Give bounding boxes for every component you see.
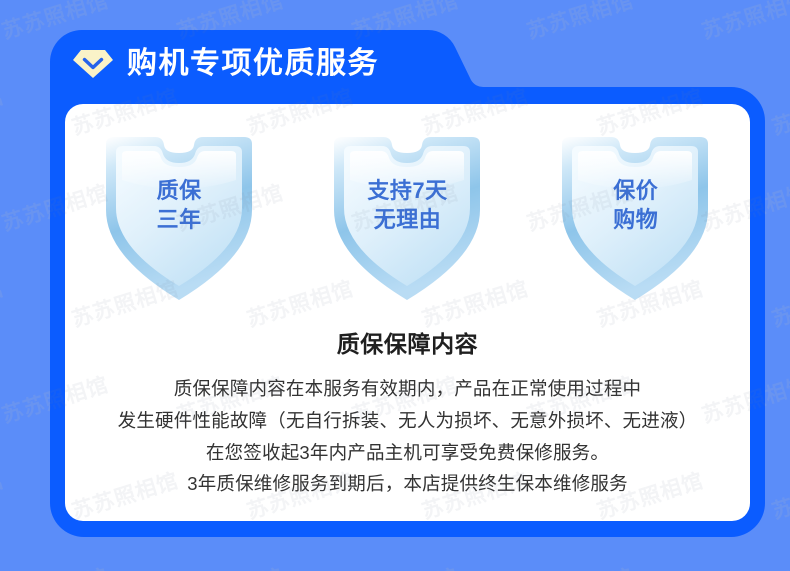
- shield-badge: 保价 购物: [548, 128, 723, 306]
- warranty-line: 发生硬件性能故障（无自行拆装、无人为损坏、无意外损坏、无进液）: [65, 405, 750, 437]
- warranty-section: 质保保障内容 质保保障内容在本服务有效期内，产品在正常使用过程中 发生硬件性能故…: [65, 325, 750, 500]
- shield-label-line: 购物: [548, 205, 723, 234]
- shield-label-line: 保价: [548, 176, 723, 205]
- diamond-gem-icon: [72, 48, 114, 80]
- shield-label-line: 支持7天: [320, 176, 495, 205]
- warranty-line: 在您签收起3年内产品主机可享受免费保修服务。: [65, 437, 750, 469]
- header-tab: 购机专项优质服务: [72, 41, 379, 87]
- shield-badges-row: 质保 三年 支持7天 无理由 保价 购物: [65, 128, 750, 308]
- warranty-line: 3年质保维修服务到期后，本店提供终生保本维修服务: [65, 468, 750, 500]
- shield-label-line: 三年: [92, 205, 267, 234]
- shield-label-line: 无理由: [320, 205, 495, 234]
- shield-badge: 质保 三年: [92, 128, 267, 306]
- shield-label: 支持7天 无理由: [320, 176, 495, 234]
- page-title: 购机专项优质服务: [127, 49, 379, 79]
- warranty-line: 质保保障内容在本服务有效期内，产品在正常使用过程中: [65, 373, 750, 405]
- shield-label-line: 质保: [92, 176, 267, 205]
- shield-badge: 支持7天 无理由: [320, 128, 495, 306]
- warranty-title: 质保保障内容: [65, 325, 750, 359]
- shield-label: 质保 三年: [92, 176, 267, 234]
- shield-label: 保价 购物: [548, 176, 723, 234]
